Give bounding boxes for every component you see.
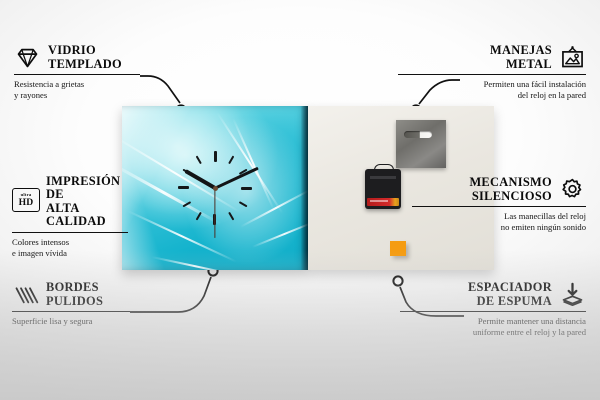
feature-description: Resistencia a grietas y rayones: [14, 75, 140, 100]
feature-description: Superficie lisa y segura: [12, 312, 130, 327]
ultra-hd-icon-main-text: HD: [19, 198, 34, 208]
quartz-mechanism-box: [365, 169, 401, 209]
feature-desc-line2: uniforme entre el reloj y la pared: [473, 327, 586, 337]
clock-front-panel: [122, 106, 308, 270]
feature-title-line2: ALTA CALIDAD: [46, 201, 106, 228]
feature-description: Colores intensos e imagen vívida: [12, 233, 128, 258]
feature-title-line2: TEMPLADO: [48, 57, 122, 71]
feature-mecanismo-silencioso: MECANISMO SILENCIOSO Las manecillas del …: [412, 176, 586, 232]
feature-espaciador-espuma: ESPACIADOR DE ESPUMA Permite mantener un…: [400, 281, 586, 337]
feature-desc-line2: e imagen vívida: [12, 248, 67, 258]
clock-center-cap: [213, 186, 218, 191]
feature-desc-line2: y rayones: [14, 90, 47, 100]
infographic-canvas: VIDRIO TEMPLADO Resistencia a grietas y …: [0, 0, 600, 400]
foam-spacer: [390, 241, 406, 256]
gear-icon: [559, 176, 586, 203]
feature-title-line2: PULIDOS: [46, 294, 103, 308]
feature-desc-line1: Permiten una fácil instalación: [484, 79, 586, 89]
foam-spacer-icon: [559, 281, 586, 308]
feature-title-line1: VIDRIO: [48, 43, 96, 57]
feature-title-line2: SILENCIOSO: [472, 189, 552, 203]
feature-desc-line1: Resistencia a grietas: [14, 79, 84, 89]
feature-title-line1: ESPACIADOR: [468, 280, 552, 294]
battery: [367, 198, 399, 206]
polished-edges-icon: [12, 281, 39, 308]
feature-title-line2: METAL: [506, 57, 552, 71]
feature-desc-line1: Superficie lisa y segura: [12, 316, 92, 326]
feature-description: Permiten una fácil instalación del reloj…: [398, 75, 586, 100]
feature-desc-line2: del reloj en la pared: [518, 90, 586, 100]
feature-title-line2: DE ESPUMA: [477, 294, 552, 308]
feature-title-line1: BORDES: [46, 280, 99, 294]
feature-description: Permite mantener una distancia uniforme …: [400, 312, 586, 337]
metal-hanger-plate: [396, 120, 446, 168]
feature-desc-line1: Colores intensos: [12, 237, 69, 247]
feature-desc-line2: no emiten ningún sonido: [501, 222, 586, 232]
feature-title-line1: MECANISMO: [469, 175, 552, 189]
feature-impresion-alta-calidad: ultra HD IMPRESIÓN DE ALTA CALIDAD Color…: [12, 175, 128, 258]
diamond-icon: [14, 44, 41, 71]
feature-description: Las manecillas del reloj no emiten ningú…: [412, 207, 586, 232]
ultra-hd-icon: ultra HD: [12, 188, 39, 215]
feature-desc-line1: Las manecillas del reloj: [504, 211, 586, 221]
picture-hanger-icon: [559, 44, 586, 71]
feature-bordes-pulidos: BORDES PULIDOS Superficie lisa y segura: [12, 281, 130, 327]
feature-vidrio-templado: VIDRIO TEMPLADO Resistencia a grietas y …: [14, 44, 140, 100]
feature-title-line1: IMPRESIÓN DE: [46, 174, 120, 201]
feature-manejas-metal: MANEJAS METAL Permiten una fácil instala…: [398, 44, 586, 100]
feature-title-line1: MANEJAS: [490, 43, 552, 57]
feature-desc-line1: Permite mantener una distancia: [478, 316, 586, 326]
